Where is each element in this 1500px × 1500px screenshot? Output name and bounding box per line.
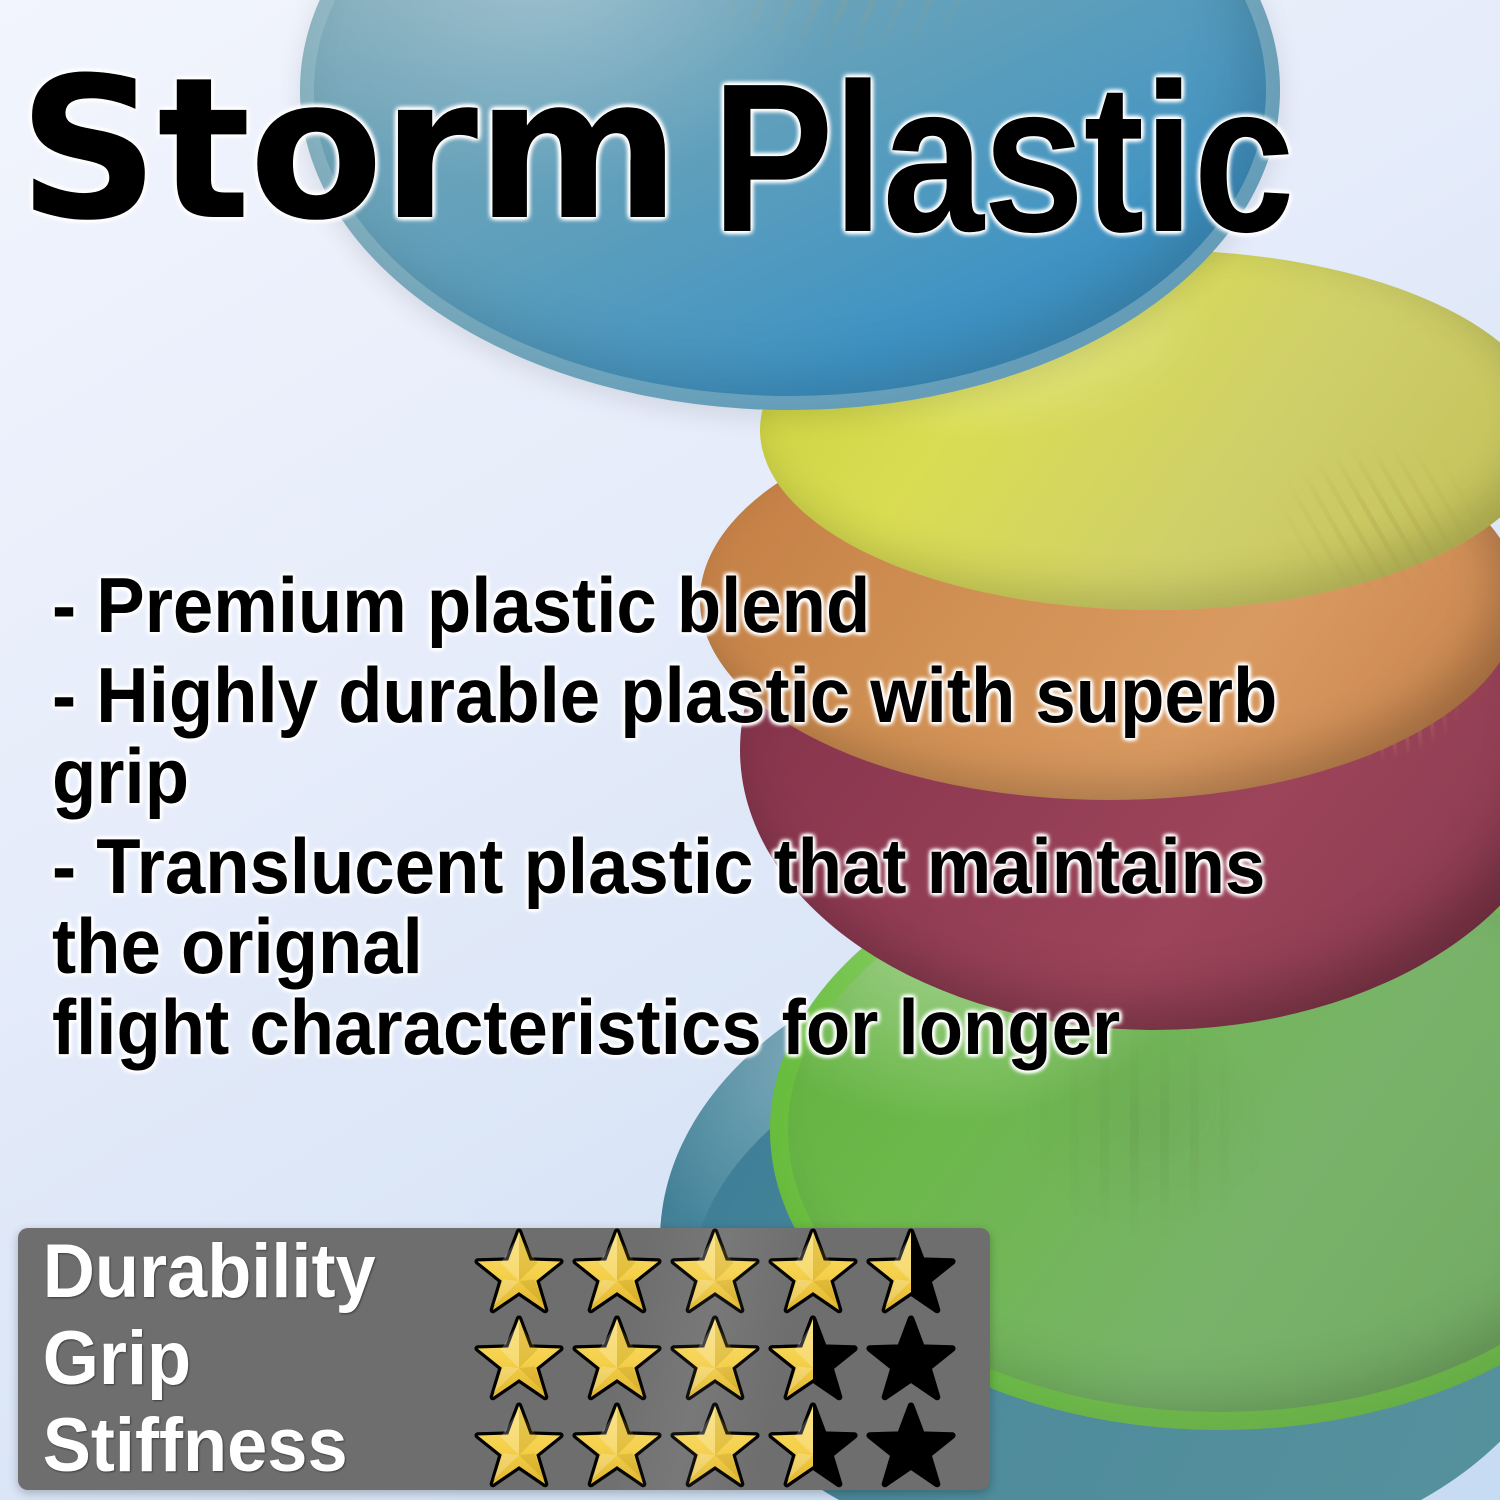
rating-stars-grip: [473, 1315, 957, 1403]
star-filled-icon: [473, 1402, 565, 1490]
rating-label-durability: Durability: [18, 1234, 450, 1310]
rating-stars-stiffness: [473, 1402, 957, 1490]
star-filled-icon: [669, 1315, 761, 1403]
star-half-icon: [865, 1228, 957, 1316]
star-filled-icon: [669, 1402, 761, 1490]
rating-label-stiffness: Stiffness: [18, 1408, 450, 1484]
star-filled-icon: [473, 1315, 565, 1403]
rating-stars-durability: [473, 1228, 957, 1316]
star-filled-icon: [669, 1228, 761, 1316]
star-filled-icon: [571, 1402, 663, 1490]
disc-yellow-stamp-icon: [1255, 430, 1500, 610]
product-infographic: Storm Plastic - Premium plastic blend - …: [0, 0, 1500, 1500]
star-filled-icon: [571, 1315, 663, 1403]
ratings-panel: Durability Grip Stiffness: [18, 1228, 990, 1490]
star-half-icon: [767, 1402, 859, 1490]
star-filled-icon: [473, 1228, 565, 1316]
star-filled-icon: [767, 1228, 859, 1316]
star-empty-icon: [865, 1402, 957, 1490]
rating-row-durability: Durability: [18, 1228, 990, 1315]
star-half-icon: [767, 1315, 859, 1403]
star-empty-icon: [865, 1315, 957, 1403]
rating-label-grip: Grip: [18, 1321, 450, 1397]
star-filled-icon: [571, 1228, 663, 1316]
rating-row-grip: Grip: [18, 1315, 990, 1402]
disc-green-stamp-icon: [980, 990, 1310, 1290]
rating-row-stiffness: Stiffness: [18, 1402, 990, 1489]
